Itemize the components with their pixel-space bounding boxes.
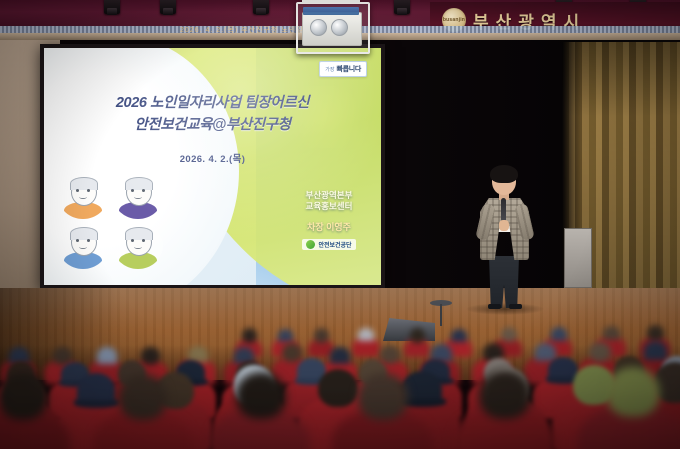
character-eye	[142, 189, 145, 192]
slide-title-line2: 안전보건교육@부산진구청	[44, 114, 381, 136]
slide-badge: 가장 빠릅니다	[319, 61, 367, 77]
character-eye	[76, 189, 79, 192]
slide-surface: 가장 빠릅니다 2026 노인일자리사업 팀장어르신 안전보건교육@부산진구청 …	[44, 48, 381, 285]
elder-character-blue	[58, 223, 108, 269]
elder-character-orange	[58, 173, 108, 219]
stage-light-icon	[253, 0, 269, 14]
badge-bold-text: 빠릅니다	[336, 64, 361, 74]
speaker-hand	[499, 220, 509, 231]
projector-lens-icon	[331, 19, 348, 36]
audience-member	[332, 379, 432, 449]
presenter-name: 차장 이영주	[286, 220, 372, 233]
character-hair	[125, 227, 153, 240]
stage-light-icon	[394, 0, 410, 14]
audience-head	[119, 374, 167, 420]
character-eye	[131, 239, 134, 242]
presenter-org-line2: 교육홍보센터	[286, 201, 372, 212]
character-eye	[142, 239, 145, 242]
character-eye	[87, 239, 90, 242]
projector-lens-icon	[310, 19, 327, 36]
speaker-figure	[472, 168, 538, 308]
elder-character-green	[113, 223, 163, 269]
stage-light-icon	[104, 0, 120, 14]
audience-row-foreground	[0, 379, 680, 449]
character-mouth	[134, 245, 142, 249]
character-eye	[87, 189, 90, 192]
audience-member	[94, 379, 192, 449]
audience-member	[0, 379, 70, 449]
elder-character-group	[58, 173, 164, 269]
kosha-logo-text: 안전보건공단	[318, 240, 351, 249]
wall-vent	[564, 228, 592, 288]
character-mouth	[79, 195, 87, 199]
character-eye	[131, 189, 134, 192]
character-mouth	[134, 195, 142, 199]
slide-date: 2026. 4. 2.(목)	[44, 151, 381, 165]
audience-head	[479, 370, 531, 419]
auditorium-photo: busanjin 부산광역시 2026. 4. 2.(목) 부산진구청 노인일자…	[0, 0, 680, 449]
microphone-icon	[501, 198, 506, 222]
speaker-hair	[490, 165, 518, 183]
audience-head	[236, 372, 286, 419]
character-eye	[76, 239, 79, 242]
audience-head	[0, 374, 47, 420]
character-hair	[70, 177, 98, 190]
presenter-org-line1: 부산광역본부	[286, 190, 372, 201]
character-hair	[70, 227, 98, 240]
audience-member	[578, 375, 680, 449]
character-hair	[125, 177, 153, 190]
projector-body	[302, 12, 362, 46]
projector-mount-bar	[302, 0, 360, 3]
audience-member	[210, 377, 310, 449]
character-mouth	[79, 245, 87, 249]
kosha-mark-icon	[306, 240, 315, 249]
projection-screen: 가장 빠릅니다 2026 노인일자리사업 팀장어르신 안전보건교육@부산진구청 …	[40, 44, 385, 289]
projector-top-panel	[303, 7, 359, 15]
elder-character-purple	[113, 173, 163, 219]
busanjin-logo-text: busanjin	[443, 17, 465, 23]
audience-member	[452, 377, 556, 449]
audience-head	[358, 373, 408, 420]
badge-small-text: 가장	[325, 66, 334, 73]
kosha-logo: 안전보건공단	[302, 239, 355, 250]
slide-presenter-block: 부산광역본부 교육홍보센터 차장 이영주 안전보건공단	[286, 190, 372, 254]
audience-head	[606, 367, 660, 417]
stage-light-icon	[160, 0, 176, 14]
audience-crowd	[0, 299, 680, 449]
slide-title-line1: 2026 노인일자리사업 팀장어르신	[44, 92, 381, 114]
slide-title: 2026 노인일자리사업 팀장어르신 안전보건교육@부산진구청	[44, 92, 381, 137]
